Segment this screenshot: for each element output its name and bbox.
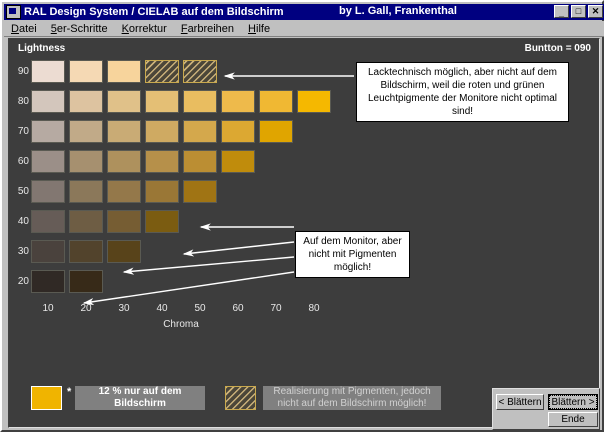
navigation-button-panel: < Blättern Blättern > Ende [492, 388, 600, 430]
x-axis-tick: 30 [112, 303, 136, 314]
color-cell[interactable] [259, 120, 293, 143]
chart-panel: Lightness Buntton = 090 9080706050403020… [8, 38, 600, 428]
menu-item-hilfe-rest: ilfe [256, 23, 270, 35]
menu-item-korrektur-rest: orrektur [129, 23, 167, 35]
y-axis-tick: 50 [9, 186, 29, 197]
x-axis-tick: 50 [188, 303, 212, 314]
callout-pigment-only: Lacktechnisch möglich, aber nicht auf de… [356, 62, 569, 122]
color-cell[interactable] [107, 180, 141, 203]
color-cell[interactable] [31, 120, 65, 143]
legend-label-pigment: Realisierung mit Pigmenten, jedoch nicht… [263, 386, 441, 410]
color-cell[interactable] [145, 120, 179, 143]
legend-label-monitor: 12 % nur auf dem Bildschirm [75, 386, 205, 410]
color-cell[interactable] [107, 150, 141, 173]
color-cell[interactable] [69, 60, 103, 83]
window-title: RAL Design System / CIELAB auf dem Bilds… [24, 6, 284, 18]
x-axis-tick: 70 [264, 303, 288, 314]
y-axis-tick: 30 [9, 246, 29, 257]
color-cell[interactable] [31, 150, 65, 173]
app-palette-icon [6, 5, 21, 19]
x-axis-tick: 80 [302, 303, 326, 314]
window-controls: _ □ ✕ [554, 5, 603, 18]
color-cell[interactable] [69, 210, 103, 233]
x-axis-tick: 10 [36, 303, 60, 314]
color-cell[interactable] [183, 120, 217, 143]
color-cell[interactable] [221, 150, 255, 173]
menu-item-datei-rest: atei [19, 23, 37, 35]
maximize-button[interactable]: □ [571, 5, 586, 18]
color-cell[interactable] [183, 150, 217, 173]
color-cell[interactable] [107, 90, 141, 113]
color-cell[interactable] [31, 90, 65, 113]
legend-swatch-monitor [31, 386, 62, 410]
color-cell[interactable] [69, 90, 103, 113]
maximize-icon: □ [572, 6, 585, 17]
minimize-icon: _ [555, 6, 568, 17]
color-cell[interactable] [221, 120, 255, 143]
end-button[interactable]: Ende [548, 412, 598, 427]
y-axis-tick: 80 [9, 96, 29, 107]
color-cell[interactable] [31, 240, 65, 263]
color-cell[interactable] [183, 90, 217, 113]
color-cell[interactable] [145, 60, 179, 83]
color-cell[interactable] [183, 180, 217, 203]
y-axis-tick: 40 [9, 216, 29, 227]
y-axis-tick: 20 [9, 276, 29, 287]
color-cell[interactable] [297, 90, 331, 113]
window-subtitle: by L. Gall, Frankenthal [339, 5, 457, 17]
color-cell[interactable] [259, 90, 293, 113]
color-cell[interactable] [31, 180, 65, 203]
menu-item-hilfe[interactable]: Hilfe [241, 23, 277, 35]
menu-item-korrektur[interactable]: Korrektur [115, 23, 174, 35]
color-cell[interactable] [145, 210, 179, 233]
color-cell[interactable] [107, 240, 141, 263]
menu-item-farbreihen-rest: arbreihen [188, 23, 234, 35]
color-cell[interactable] [183, 60, 217, 83]
color-cell[interactable] [221, 90, 255, 113]
minimize-button[interactable]: _ [554, 5, 569, 18]
menu-item-5er-schritte-rest: er-Schritte [57, 23, 108, 35]
y-axis-tick: 60 [9, 156, 29, 167]
menu-item-datei[interactable]: Datei [4, 23, 44, 35]
x-axis-tick: 40 [150, 303, 174, 314]
x-axis-title: Chroma [141, 319, 221, 330]
color-cell[interactable] [31, 60, 65, 83]
x-axis-tick: 60 [226, 303, 250, 314]
x-axis-tick: 20 [74, 303, 98, 314]
color-cell[interactable] [69, 270, 103, 293]
menu-item-farbreihen[interactable]: Farbreihen [174, 23, 241, 35]
close-icon: ✕ [589, 6, 602, 17]
y-axis-tick: 70 [9, 126, 29, 137]
color-cell[interactable] [31, 210, 65, 233]
color-cell[interactable] [31, 270, 65, 293]
y-axis-tick: 90 [9, 66, 29, 77]
color-cell[interactable] [107, 120, 141, 143]
color-cell[interactable] [69, 180, 103, 203]
legend-asterisk: * [67, 386, 71, 398]
color-cell[interactable] [69, 150, 103, 173]
color-cell[interactable] [69, 240, 103, 263]
close-button[interactable]: ✕ [588, 5, 603, 18]
color-cell[interactable] [145, 180, 179, 203]
prev-page-button[interactable]: < Blättern [496, 394, 544, 410]
title-bar: RAL Design System / CIELAB auf dem Bilds… [4, 4, 604, 20]
legend-swatch-pigment [225, 386, 256, 410]
color-cell[interactable] [69, 120, 103, 143]
color-cell[interactable] [145, 150, 179, 173]
callout-monitor-only: Auf dem Monitor, aber nicht mit Pigmente… [295, 231, 410, 278]
application-window: RAL Design System / CIELAB auf dem Bilds… [0, 0, 604, 432]
color-cell[interactable] [107, 210, 141, 233]
color-cell[interactable] [145, 90, 179, 113]
color-cell[interactable] [107, 60, 141, 83]
next-page-button[interactable]: Blättern > [548, 394, 598, 410]
menu-bar: Datei 5er-Schritte Korrektur Farbreihen … [4, 21, 604, 37]
next-page-button-label: Blättern > [549, 395, 597, 409]
menu-item-5er-schritte[interactable]: 5er-Schritte [44, 23, 115, 35]
